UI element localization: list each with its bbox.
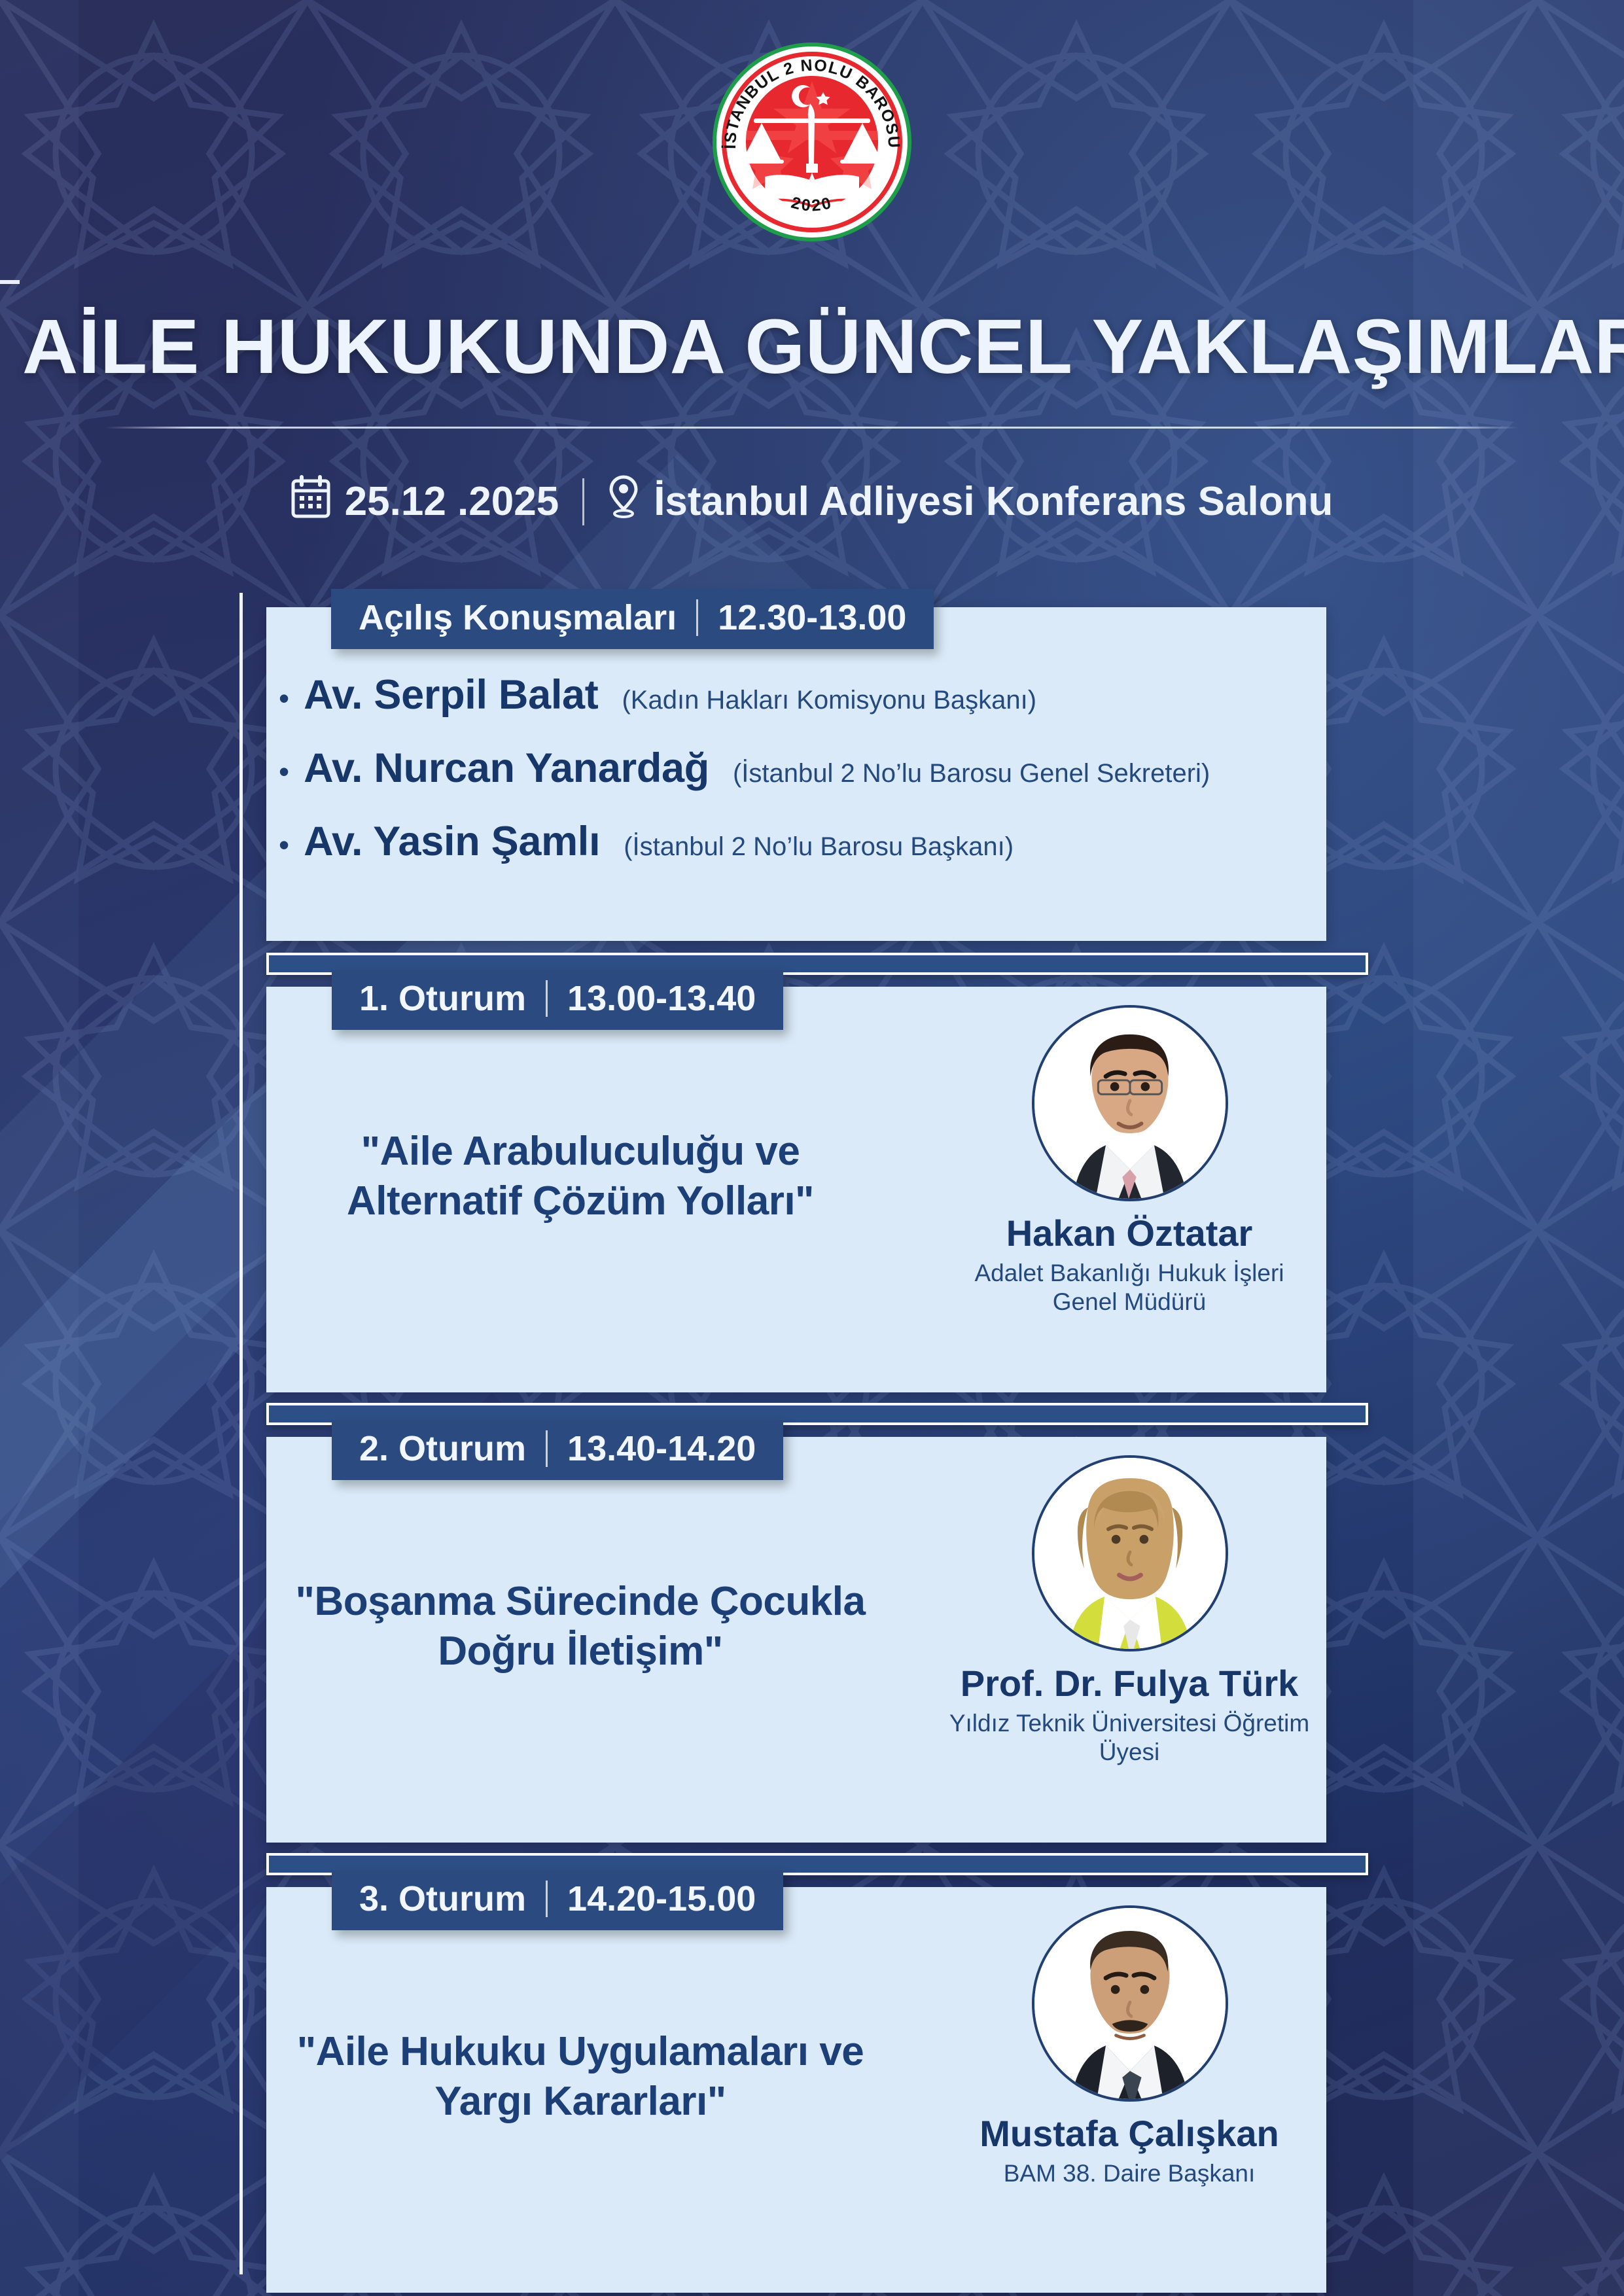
session-label: 1. Oturum — [359, 981, 526, 1016]
session-label: 2. Oturum — [359, 1431, 526, 1466]
title-underline-rule — [105, 427, 1519, 429]
session-panel-1: 1. Oturum 13.00-13.40 "Aile Arabuluculuğ… — [266, 987, 1326, 1392]
session-topic: "Aile Arabuluculuğu ve Alternatif Çözüm … — [286, 1127, 875, 1226]
page-title-text: AİLE HUKUKUNDA GÜNCEL YAKLAŞIMLAR — [22, 304, 1624, 390]
session-panel-2: 2. Oturum 13.40-14.20 "Boşanma Sürecinde… — [266, 1437, 1326, 1843]
session-time: 13.00-13.40 — [567, 981, 756, 1016]
session-label: 3. Oturum — [359, 1881, 526, 1916]
speaker-title: Yıldız Teknik Üniversitesi Öğretim Üyesi — [943, 1709, 1316, 1767]
speaker-info: Mustafa Çalışkan BAM 38. Daire Başkanı — [943, 2113, 1316, 2188]
bullet-icon: • — [279, 683, 289, 713]
speaker-title: Adalet Bakanlığı Hukuk İşleri Genel Müdü… — [943, 1259, 1316, 1317]
speaker-role: (İstanbul 2 No’lu Barosu Genel Sekreteri… — [733, 759, 1210, 788]
speaker-avatar — [1032, 1005, 1228, 1201]
session-badge-3: 3. Oturum 14.20-15.00 — [332, 1870, 783, 1930]
session-panel-3: 3. Oturum 14.20-15.00 "Aile Hukuku Uygul… — [266, 1887, 1326, 2293]
speaker-name: Av. Yasin Şamlı — [304, 818, 600, 865]
speaker-title: BAM 38. Daire Başkanı — [943, 2159, 1316, 2188]
scales-of-justice-emblem: İSTANBUL 2 NOLU BAROSU 2020 — [711, 41, 913, 243]
speaker-avatar — [1032, 1455, 1228, 1651]
speaker-role: (İstanbul 2 No’lu Barosu Başkanı) — [624, 832, 1014, 862]
list-item: • Av. Serpil Balat (Kadın Hakları Komisy… — [279, 671, 1326, 718]
opening-label: Açılış Konuşmaları — [359, 600, 677, 635]
badge-divider — [546, 1430, 548, 1467]
event-date-text: 25.12 .2025 — [345, 478, 559, 525]
opening-time: 12.30-13.00 — [718, 600, 906, 635]
opening-speakers-list: • Av. Serpil Balat (Kadın Hakları Komisy… — [279, 671, 1326, 891]
location-pin-icon — [608, 474, 639, 529]
speaker-role: (Kadın Hakları Komisyonu Başkanı) — [622, 686, 1036, 715]
list-item: • Av. Yasin Şamlı (İstanbul 2 No’lu Baro… — [279, 818, 1326, 865]
event-location: İstanbul Adliyesi Konferans Salonu — [608, 474, 1333, 529]
session-topic: "Boşanma Sürecinde Çocukla Doğru İletişi… — [286, 1577, 875, 1676]
session-topic: "Aile Hukuku Uygulamaları ve Yargı Karar… — [286, 2027, 875, 2126]
event-date: 25.12 .2025 — [291, 475, 559, 528]
program-section: Açılış Konuşmaları 12.30-13.00 • Av. Ser… — [239, 593, 1352, 2274]
event-location-text: İstanbul Adliyesi Konferans Salonu — [654, 478, 1333, 525]
badge-divider — [546, 1881, 548, 1917]
calendar-icon — [291, 475, 330, 528]
title-block: AİLE HUKUKUNDA GÜNCEL YAKLAŞIMLAR — [0, 308, 1624, 386]
poster: İSTANBUL 2 NOLU BAROSU 2020 AİLE HUKUKUN… — [0, 0, 1624, 2296]
session-time: 13.40-14.20 — [567, 1431, 756, 1466]
meta-divider — [582, 478, 584, 525]
badge-divider — [546, 980, 548, 1017]
speaker-info: Prof. Dr. Fulya Türk Yıldız Teknik Ünive… — [943, 1663, 1316, 1767]
badge-divider — [696, 599, 698, 636]
bullet-icon: • — [279, 830, 289, 860]
speaker-name: Mustafa Çalışkan — [943, 2113, 1316, 2154]
page-title: AİLE HUKUKUNDA GÜNCEL YAKLAŞIMLAR — [0, 308, 1624, 386]
event-meta-row: 25.12 .2025 İstanbul Adliyesi Konferans … — [0, 474, 1624, 529]
corner-bracket-top-left — [0, 280, 20, 310]
bar-association-logo: İSTANBUL 2 NOLU BAROSU 2020 — [711, 41, 913, 243]
bullet-icon: • — [279, 756, 289, 786]
speaker-name: Av. Serpil Balat — [304, 671, 598, 718]
session-time: 14.20-15.00 — [567, 1881, 756, 1916]
speaker-name: Prof. Dr. Fulya Türk — [943, 1663, 1316, 1704]
session-badge-2: 2. Oturum 13.40-14.20 — [332, 1420, 783, 1480]
speaker-info: Hakan Öztatar Adalet Bakanlığı Hukuk İşl… — [943, 1213, 1316, 1316]
speaker-name: Hakan Öztatar — [943, 1213, 1316, 1254]
opening-badge: Açılış Konuşmaları 12.30-13.00 — [331, 589, 934, 649]
speaker-avatar — [1032, 1905, 1228, 2102]
list-item: • Av. Nurcan Yanardağ (İstanbul 2 No’lu … — [279, 745, 1326, 792]
program-left-frame-line — [239, 593, 243, 2274]
session-badge-1: 1. Oturum 13.00-13.40 — [332, 970, 783, 1030]
speaker-name: Av. Nurcan Yanardağ — [304, 745, 709, 792]
